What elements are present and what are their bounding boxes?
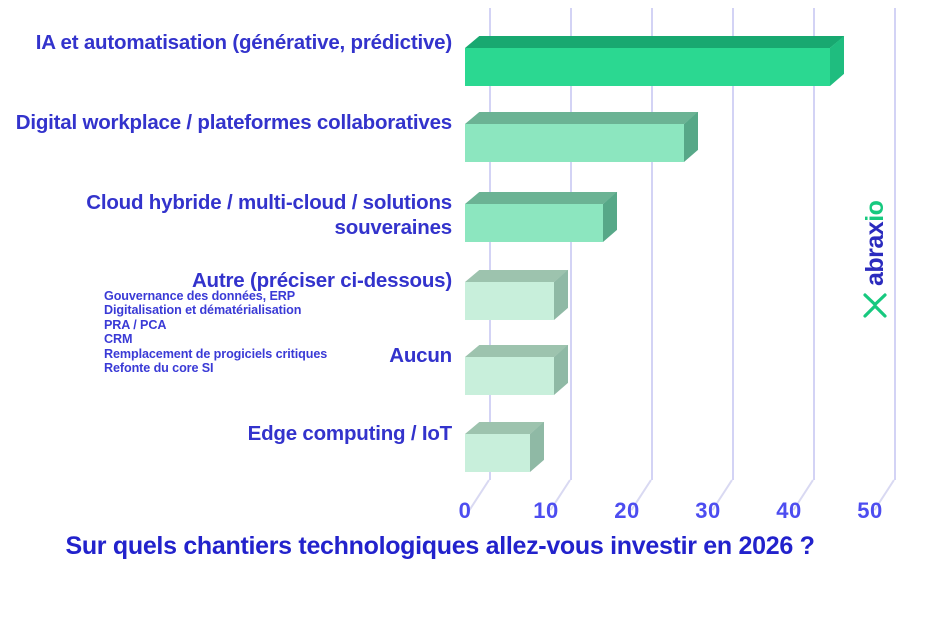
category-label-edge-computing: Edge computing / IoT bbox=[10, 421, 452, 446]
bar-chart: 01020304050 IA et automatisation (généra… bbox=[0, 0, 941, 619]
annotation-item: CRM bbox=[104, 332, 404, 346]
x-tick-50: 50 bbox=[857, 498, 882, 524]
x-tick-10: 10 bbox=[533, 498, 558, 524]
bar-front-face bbox=[465, 357, 554, 395]
x-tick-20: 20 bbox=[614, 498, 639, 524]
abraxio-logo: abraxio bbox=[852, 168, 898, 318]
bar-top-face bbox=[465, 36, 844, 48]
annotation-item: Remplacement de progiciels critiques bbox=[104, 347, 404, 361]
bar-1 bbox=[465, 112, 684, 150]
bar-top-face bbox=[465, 270, 568, 282]
bar-front-face bbox=[465, 282, 554, 320]
annotation-item: Gouvernance des données, ERP bbox=[104, 289, 404, 303]
bar-front-face bbox=[465, 204, 603, 242]
bar-front-face bbox=[465, 434, 530, 472]
x-axis-ticks: 01020304050 bbox=[440, 498, 920, 532]
x-tick-40: 40 bbox=[776, 498, 801, 524]
chart-title: Sur quels chantiers technologiques allez… bbox=[0, 532, 880, 561]
category-label-ia: IA et automatisation (générative, prédic… bbox=[10, 30, 452, 55]
x-tick-30: 30 bbox=[695, 498, 720, 524]
bar-3 bbox=[465, 270, 554, 308]
abraxio-chevron-icon bbox=[862, 292, 888, 318]
bar-front-face bbox=[465, 48, 830, 86]
bar-0 bbox=[465, 36, 830, 74]
logo-word-accent: io bbox=[861, 201, 889, 222]
bar-top-face bbox=[465, 345, 568, 357]
x-tick-0: 0 bbox=[459, 498, 472, 524]
annotation-list: Gouvernance des données, ERP Digitalisat… bbox=[104, 289, 404, 375]
bar-5 bbox=[465, 422, 530, 460]
category-label-cloud-hybride: Cloud hybride / multi-cloud / solutions … bbox=[10, 190, 452, 240]
annotation-item: PRA / PCA bbox=[104, 318, 404, 332]
bar-top-face bbox=[465, 112, 698, 124]
bar-2 bbox=[465, 192, 603, 230]
bar-front-face bbox=[465, 124, 684, 162]
annotation-item: Digitalisation et dématérialisation bbox=[104, 303, 404, 317]
category-label-digital-workplace: Digital workplace / plateformes collabor… bbox=[10, 110, 452, 135]
annotation-item: Refonte du core SI bbox=[104, 361, 404, 375]
bar-4 bbox=[465, 345, 554, 383]
logo-word-primary: abrax bbox=[861, 222, 889, 286]
bar-top-face bbox=[465, 192, 617, 204]
